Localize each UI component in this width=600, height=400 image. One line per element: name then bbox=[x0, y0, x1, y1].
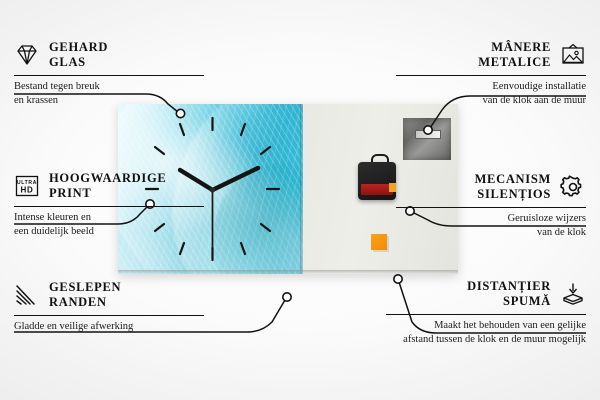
feature-manere-metalice: MÂNERE METALICE Eenvoudige installatie v… bbox=[396, 40, 586, 108]
clock-hub bbox=[210, 187, 215, 192]
feature-title: GESLEPEN RANDEN bbox=[49, 280, 121, 310]
divider bbox=[14, 75, 204, 76]
beveled-edges-icon bbox=[14, 283, 40, 307]
feature-description: Maakt het behouden van een gelijke afsta… bbox=[386, 319, 586, 347]
feature-heading: ultra HD HOOGWAARDIGE PRINT bbox=[14, 171, 204, 201]
feature-distantier-spuma: DISTANȚIER SPUMĂ Maakt het behouden van … bbox=[386, 279, 586, 347]
feature-title: GEHARD GLAS bbox=[49, 40, 108, 70]
feature-heading: MECANISM SILENȚIOS bbox=[396, 172, 586, 202]
ultra-hd-icon: ultra HD bbox=[14, 174, 40, 198]
infographic-canvas: GEHARD GLAS Bestand tegen breuk en krass… bbox=[0, 0, 600, 400]
feature-description: Eenvoudige installatie van de klok aan d… bbox=[396, 80, 586, 108]
feature-title: MECANISM SILENȚIOS bbox=[475, 172, 551, 202]
feature-heading: DISTANȚIER SPUMĂ bbox=[386, 279, 586, 309]
feature-gehard-glas: GEHARD GLAS Bestand tegen breuk en krass… bbox=[14, 40, 204, 108]
feature-heading: GESLEPEN RANDEN bbox=[14, 280, 204, 310]
feature-hoogwaardige-print: ultra HD HOOGWAARDIGE PRINT Intense kleu… bbox=[14, 171, 204, 239]
foam-spacer-icon bbox=[560, 282, 586, 306]
picture-frame-icon bbox=[560, 43, 586, 67]
feature-description: Bestand tegen breuk en krassen bbox=[14, 80, 204, 108]
metal-hanger-plate bbox=[403, 118, 451, 160]
feature-title: HOOGWAARDIGE PRINT bbox=[49, 171, 166, 201]
feature-description: Gladde en veilige afwerking bbox=[14, 320, 204, 334]
feature-geslepen-randen: GESLEPEN RANDEN Gladde en veilige afwerk… bbox=[14, 280, 204, 334]
feature-mecanism-silentios: MECANISM SILENȚIOS Geruisloze wijzers va… bbox=[396, 172, 586, 240]
divider bbox=[386, 314, 586, 315]
gear-icon bbox=[560, 175, 586, 199]
divider bbox=[396, 207, 586, 208]
minute-hand bbox=[213, 168, 259, 190]
battery-terminal bbox=[389, 183, 396, 192]
feature-description: Intense kleuren en een duidelijk beeld bbox=[14, 211, 204, 239]
feature-title: DISTANȚIER SPUMĂ bbox=[467, 279, 551, 309]
divider bbox=[14, 315, 204, 316]
divider bbox=[14, 206, 204, 207]
feature-heading: MÂNERE METALICE bbox=[396, 40, 586, 70]
diamond-icon bbox=[14, 43, 40, 67]
feature-heading: GEHARD GLAS bbox=[14, 40, 204, 70]
svg-text:HD: HD bbox=[21, 185, 34, 194]
feature-description: Geruisloze wijzers van de klok bbox=[396, 212, 586, 240]
feature-title: MÂNERE METALICE bbox=[478, 40, 551, 70]
foam-spacer bbox=[371, 234, 387, 250]
divider bbox=[396, 75, 586, 76]
hanger-slot bbox=[415, 130, 441, 139]
